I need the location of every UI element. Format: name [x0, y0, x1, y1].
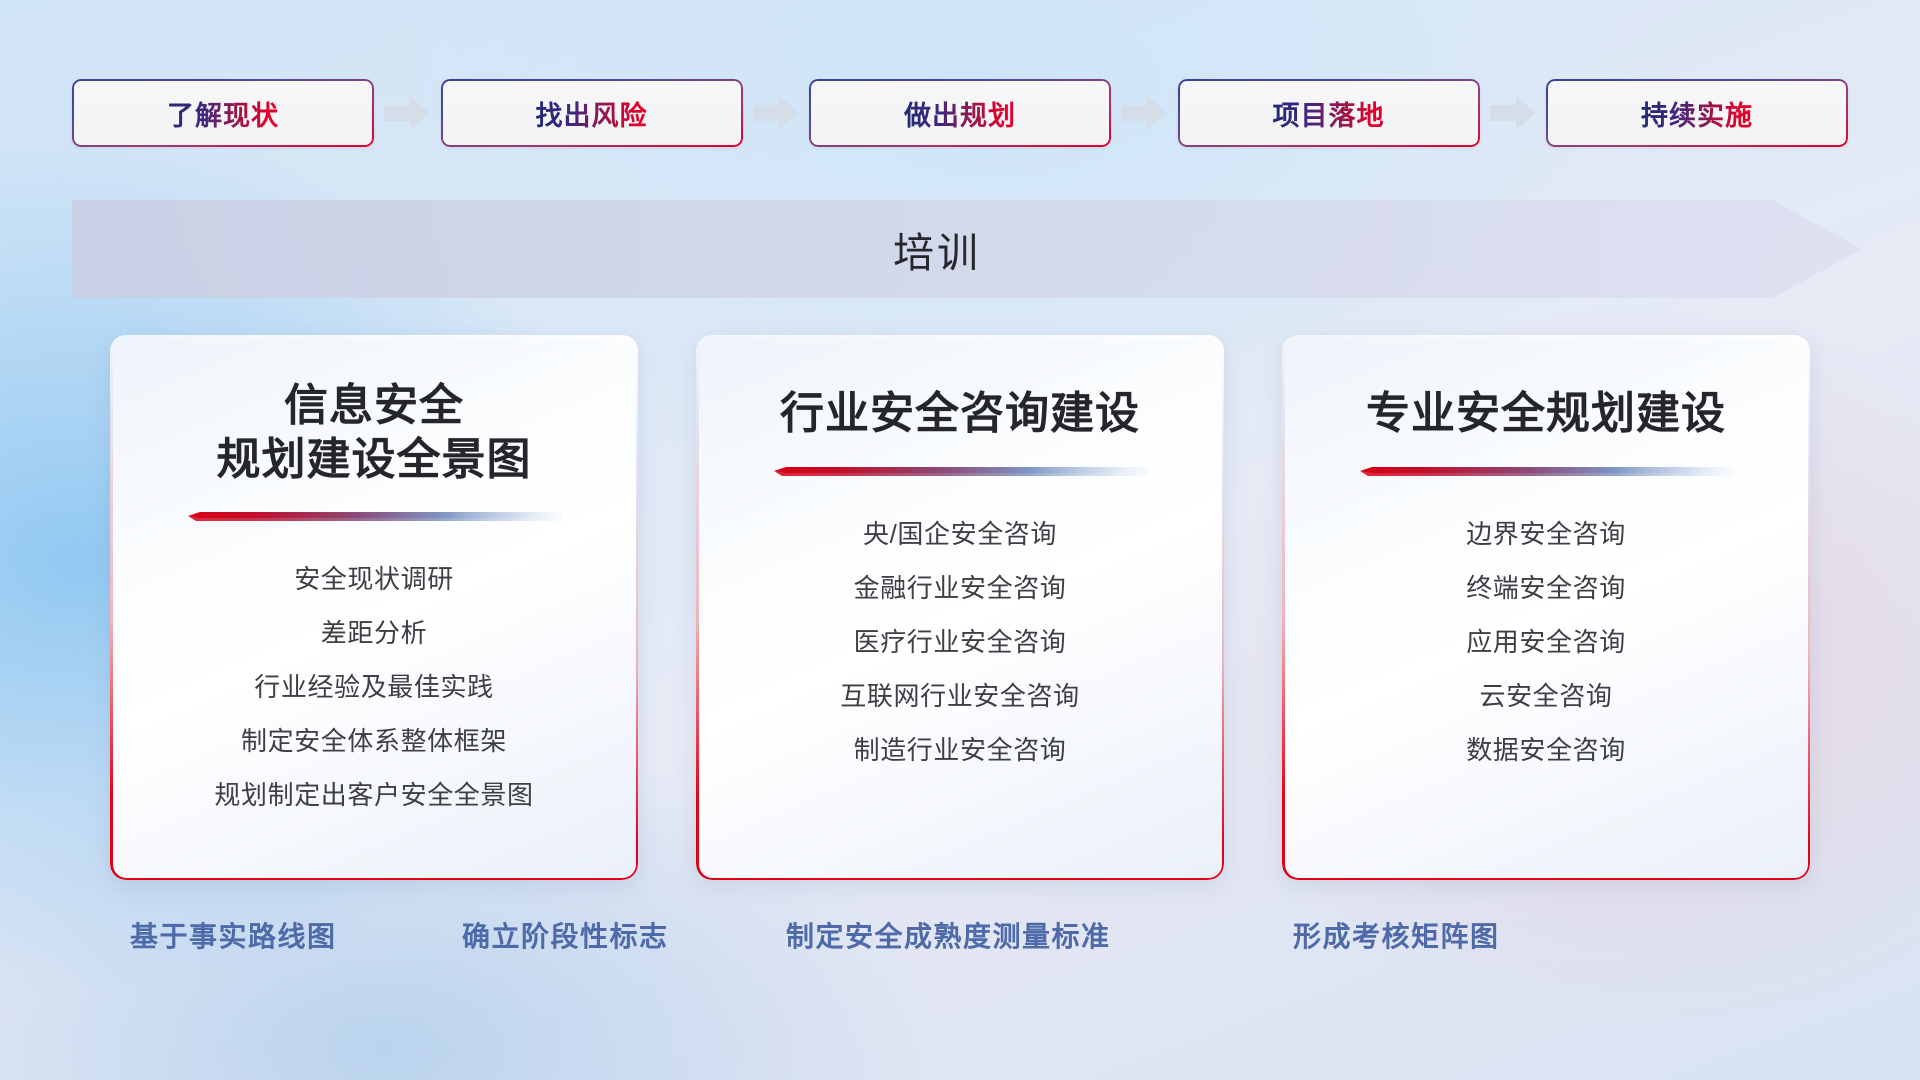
chevron-right-arrow-icon-1	[379, 96, 435, 130]
tapered-gradient-divider-icon-2	[772, 467, 1148, 480]
step-box-5[interactable]: 持续实施	[1546, 79, 1848, 147]
step-label-3: 做出规划	[904, 94, 1016, 133]
list-item: 金融行业安全咨询	[854, 568, 1067, 605]
footer-label-4: 形成考核矩阵图	[1293, 915, 1500, 955]
tapered-gradient-divider-icon-1	[186, 512, 562, 525]
card-title-2-line1: 行业安全咨询建设	[780, 387, 1140, 441]
step-box-2[interactable]: 找出风险	[441, 79, 743, 147]
step-label-5: 持续实施	[1641, 94, 1753, 133]
list-item: 制定安全体系整体框架	[241, 721, 507, 758]
step-wrap-2: 找出风险	[441, 79, 743, 147]
list-item: 云安全咨询	[1479, 676, 1612, 713]
list-item: 应用安全咨询	[1466, 622, 1626, 659]
list-item: 互联网行业安全咨询	[840, 676, 1079, 713]
card-title-1-line1: 信息安全	[217, 379, 532, 433]
card-title-1-line2: 规划建设全景图	[217, 433, 532, 487]
list-item: 制造行业安全咨询	[854, 730, 1067, 767]
card-title-1: 信息安全 规划建设全景图	[217, 379, 532, 486]
footer-label-2: 确立阶段性标志	[462, 915, 669, 955]
service-card-3[interactable]: 专业安全规划建设 边界安全咨询 终端	[1282, 335, 1810, 880]
training-banner: 培训	[72, 200, 1862, 298]
tapered-gradient-divider-icon-3	[1358, 467, 1734, 480]
step-box-4[interactable]: 项目落地	[1178, 79, 1480, 147]
step-wrap-4: 项目落地	[1178, 79, 1480, 147]
card-list-2: 央/国企安全咨询 金融行业安全咨询 医疗行业安全咨询 互联网行业安全咨询 制造行…	[696, 514, 1224, 767]
list-item: 数据安全咨询	[1466, 730, 1626, 767]
list-item: 安全现状调研	[294, 559, 454, 596]
step-box-3[interactable]: 做出规划	[809, 79, 1111, 147]
chevron-right-arrow-icon-2	[748, 96, 804, 130]
list-item: 央/国企安全咨询	[863, 514, 1057, 551]
chevron-right-arrow-icon-4	[1485, 96, 1541, 130]
step-wrap-1: 了解现状	[72, 79, 374, 147]
step-box-1[interactable]: 了解现状	[72, 79, 374, 147]
step-label-4: 项目落地	[1273, 94, 1385, 133]
step-label-1: 了解现状	[167, 94, 279, 133]
card-title-2: 行业安全咨询建设	[780, 387, 1140, 441]
list-item: 行业经验及最佳实践	[254, 667, 493, 704]
banner-title: 培训	[72, 200, 1862, 298]
footer-label-row: 基于事实路线图 确立阶段性标志 制定安全成熟度测量标准 形成考核矩阵图	[0, 915, 1920, 975]
step-wrap-5: 持续实施	[1546, 79, 1848, 147]
list-item: 规划制定出客户安全全景图	[214, 775, 533, 812]
service-card-2[interactable]: 行业安全咨询建设 央/国企安全咨询	[696, 335, 1224, 880]
step-label-2: 找出风险	[536, 94, 648, 133]
process-step-row: 了解现状 找出风险 做出规划 项目落地 持续实施	[72, 78, 1848, 148]
card-list-3: 边界安全咨询 终端安全咨询 应用安全咨询 云安全咨询 数据安全咨询	[1282, 514, 1810, 767]
card-title-3: 专业安全规划建设	[1366, 387, 1726, 441]
list-item: 医疗行业安全咨询	[854, 622, 1067, 659]
service-card-row: 信息安全 规划建设全景图 安全现状调	[110, 335, 1810, 875]
service-card-1[interactable]: 信息安全 规划建设全景图 安全现状调	[110, 335, 638, 880]
step-wrap-3: 做出规划	[809, 79, 1111, 147]
card-title-3-line1: 专业安全规划建设	[1366, 387, 1726, 441]
list-item: 差距分析	[321, 613, 427, 650]
card-list-1: 安全现状调研 差距分析 行业经验及最佳实践 制定安全体系整体框架 规划制定出客户…	[110, 559, 638, 812]
footer-label-3: 制定安全成熟度测量标准	[786, 915, 1111, 955]
list-item: 边界安全咨询	[1466, 514, 1626, 551]
footer-label-1: 基于事实路线图	[130, 915, 337, 955]
chevron-right-arrow-icon-3	[1116, 96, 1172, 130]
list-item: 终端安全咨询	[1466, 568, 1626, 605]
